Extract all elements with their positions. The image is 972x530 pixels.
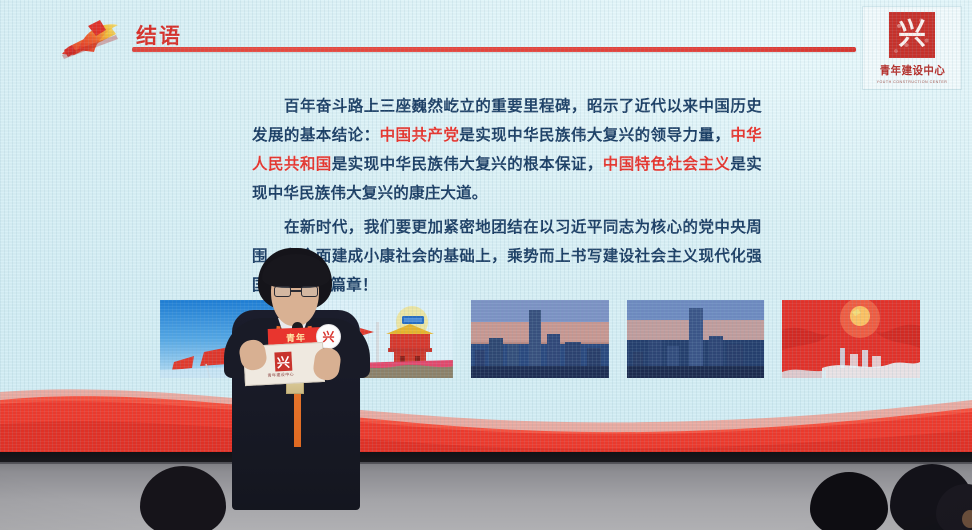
presentation-scene: 结语 兴 青年建设中心 YOUTH CONSTRUCTION CENTER 百年… [0,0,972,530]
photo-red-patriotic-montage [782,300,920,378]
text-run: 是实现中华民族伟大复兴的根本保证， [332,155,603,173]
presenter-glasses-icon [274,286,318,298]
slide-title: 结语 [136,20,182,50]
text-run: 是实现中华民族伟大复兴的领导力量， [459,126,730,144]
organization-logo: 兴 青年建设中心 YOUTH CONSTRUCTION CENTER [862,6,962,90]
slide-title-rule [132,47,856,52]
logo-chinese-name: 青年建设中心 [879,62,945,78]
screen-bottom-bezel [0,452,972,462]
slide-header: 结语 [0,0,972,72]
microphone-logo-glyph: 兴 [322,328,334,345]
speech-card-seal-glyph: 兴 [274,352,292,372]
highlight-run-socialism: 中国特色社会主义 [603,155,731,173]
slide-red-wave-decoration [0,378,972,458]
logo-seal-icon: 兴 [889,12,935,58]
highlight-run-cpc: 中国共产党 [380,126,460,144]
logo-seal-glyph: 兴 [898,20,926,50]
cpc-party-emblem-icon [52,14,130,64]
photo-city-skyline-blue [627,300,765,378]
logo-english-name: YOUTH CONSTRUCTION CENTER [877,80,948,84]
speech-card-subtext: 青年建设中心 [267,371,294,378]
slide-paragraph-1: 百年奋斗路上三座巍然屹立的重要里程碑，昭示了近代以来中国历史发展的基本结论：中国… [252,92,762,208]
auditorium-wall [0,455,972,530]
led-screen: 结语 兴 青年建设中心 YOUTH CONSTRUCTION CENTER 百年… [0,0,972,462]
photo-city-skyline-dusk [471,300,609,378]
